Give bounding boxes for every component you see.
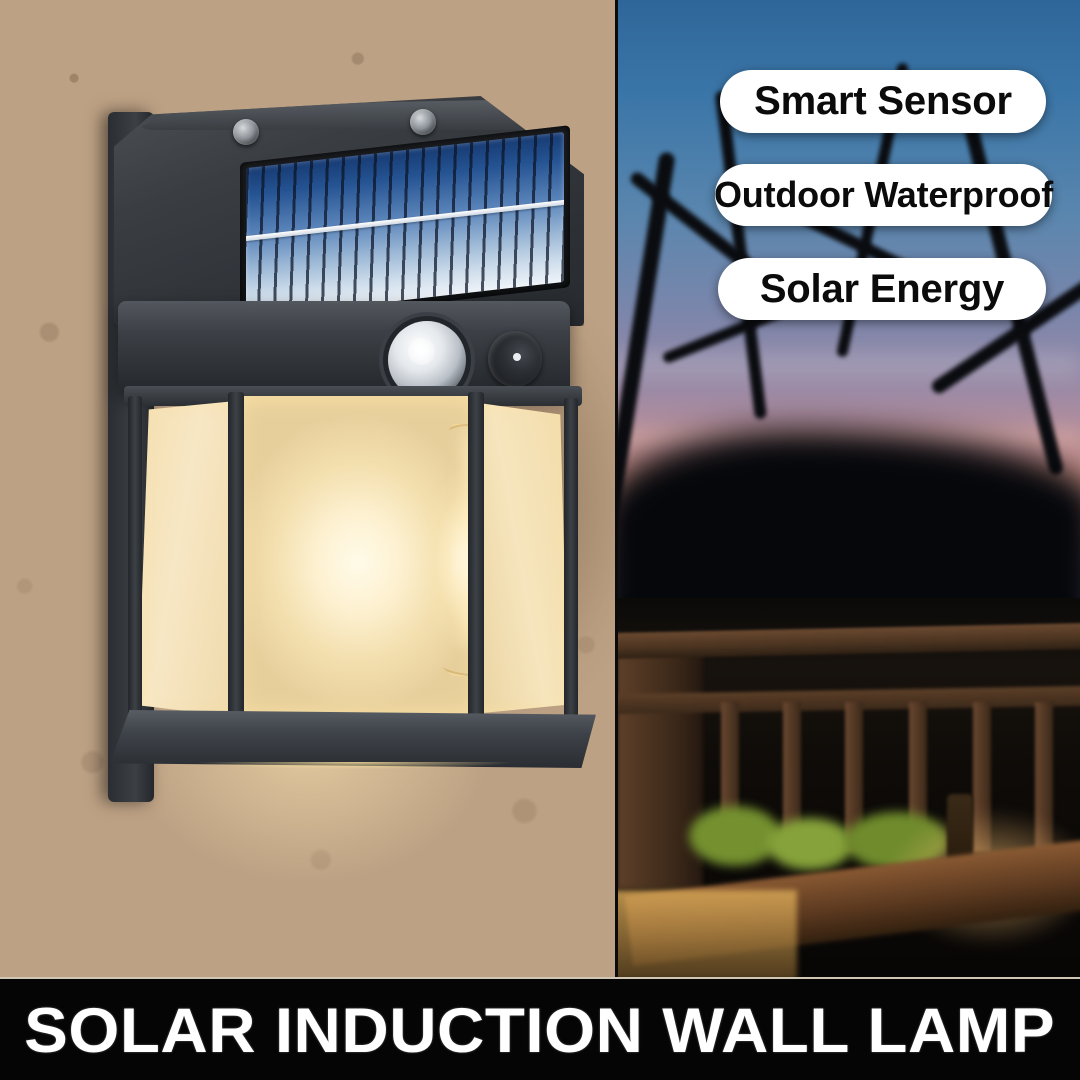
feature-pill-outdoor-waterproof[interactable]: Outdoor Waterproof [715,164,1052,226]
feature-pill-label: Solar Energy [760,267,1004,312]
lantern-frame-post [564,398,578,720]
feature-pill-label: Outdoor Waterproof [714,174,1053,216]
sensor-bar [118,301,570,393]
solar-wall-lamp [100,96,617,816]
solar-cell-stripes [246,132,564,318]
ambient-light-sensor-icon [488,331,542,387]
feature-pill-smart-sensor[interactable]: Smart Sensor [720,70,1046,133]
lantern-frame-post [468,392,484,722]
lantern-base-shelf [110,710,596,768]
deck-railing-top [617,623,1080,659]
feature-pill-solar-energy[interactable]: Solar Energy [718,258,1046,320]
table-cloth [617,890,797,977]
deck-post [617,648,703,888]
lantern-frame-post [128,396,142,722]
product-marketing-image: Smart Sensor Outdoor Waterproof Solar En… [0,0,1080,1080]
panel-divider [615,0,618,977]
left-product-photo [0,0,617,977]
downward-light-spill [130,762,580,776]
product-title: SOLAR INDUCTION WALL LAMP [25,995,1056,1067]
lantern-frame-post [228,392,244,722]
solar-panel [246,132,564,318]
mounting-screw-icon [410,109,436,135]
glass-panel-front [236,396,480,716]
mounting-screw-icon [233,119,259,145]
foliage [689,806,781,866]
feature-pill-label: Smart Sensor [754,79,1012,124]
patio-deck [617,598,1080,977]
housing-top-edge [136,100,586,130]
lantern-glass-housing [120,392,586,728]
bottom-title-banner: SOLAR INDUCTION WALL LAMP [0,977,1080,1080]
feature-pill-list: Smart Sensor Outdoor Waterproof Solar En… [700,70,1070,320]
glass-panel-right [472,402,568,714]
